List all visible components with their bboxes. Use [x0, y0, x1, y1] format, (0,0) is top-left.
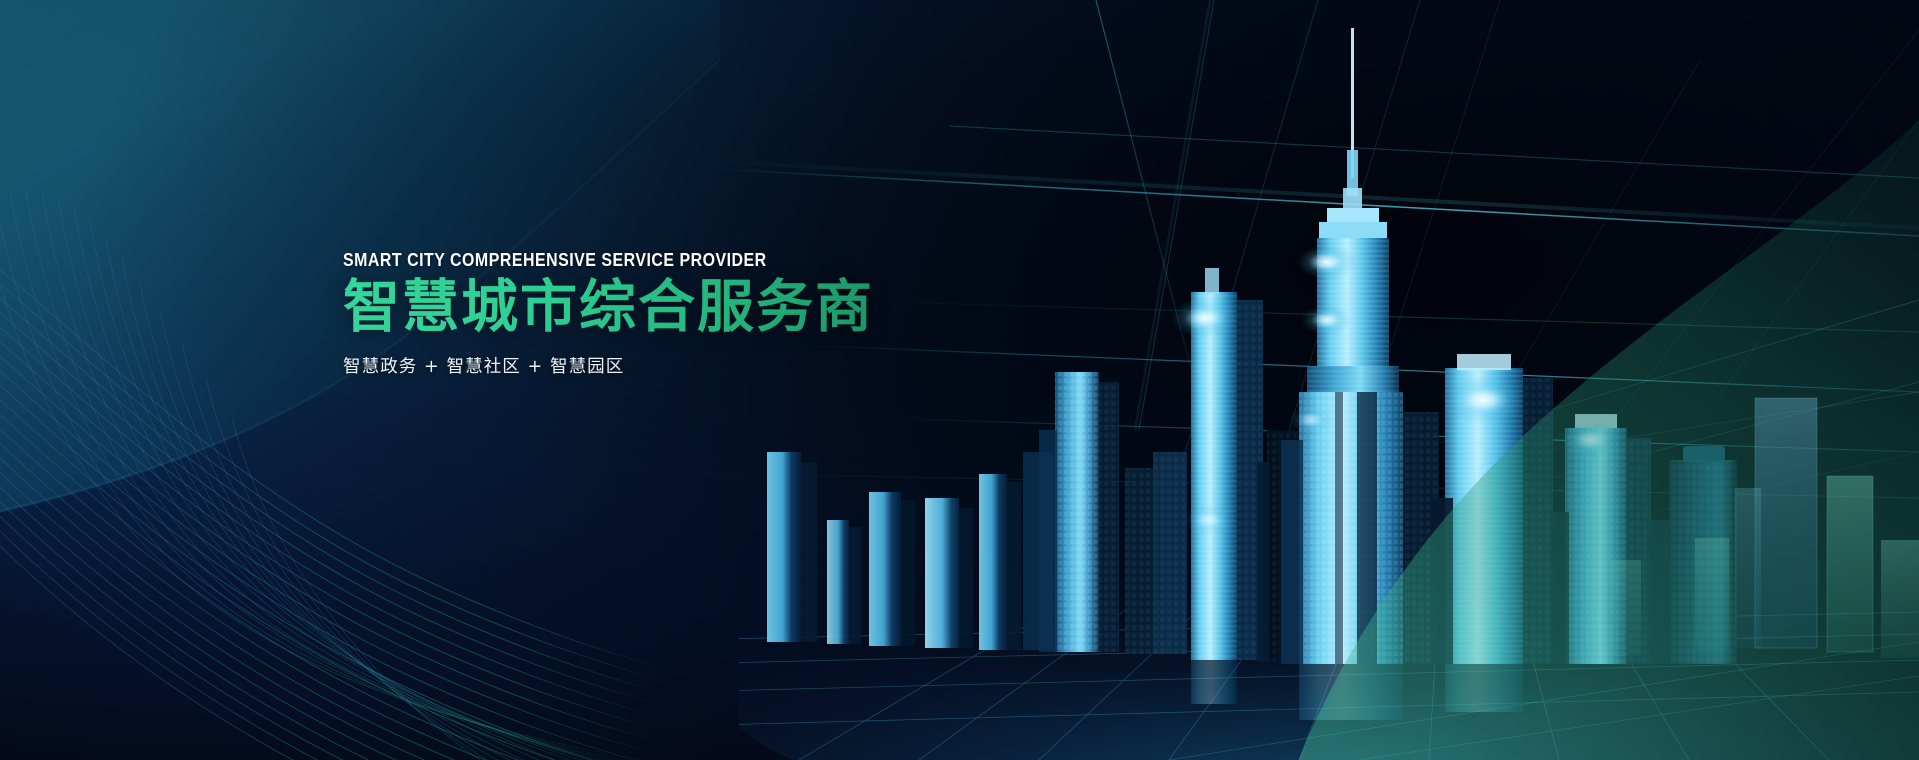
hero-eyebrow: SMART CITY COMPREHENSIVE SERVICE PROVIDE… [343, 250, 962, 270]
hero-banner: SMART CITY COMPREHENSIVE SERVICE PROVIDE… [0, 0, 1919, 760]
vignette-overlay [0, 0, 1919, 760]
hero-text-block: SMART CITY COMPREHENSIVE SERVICE PROVIDE… [343, 250, 1063, 378]
hero-headline: 智慧城市综合服务商 [343, 277, 1063, 339]
hero-subline: 智慧政务 + 智慧社区 + 智慧园区 [343, 353, 1063, 378]
